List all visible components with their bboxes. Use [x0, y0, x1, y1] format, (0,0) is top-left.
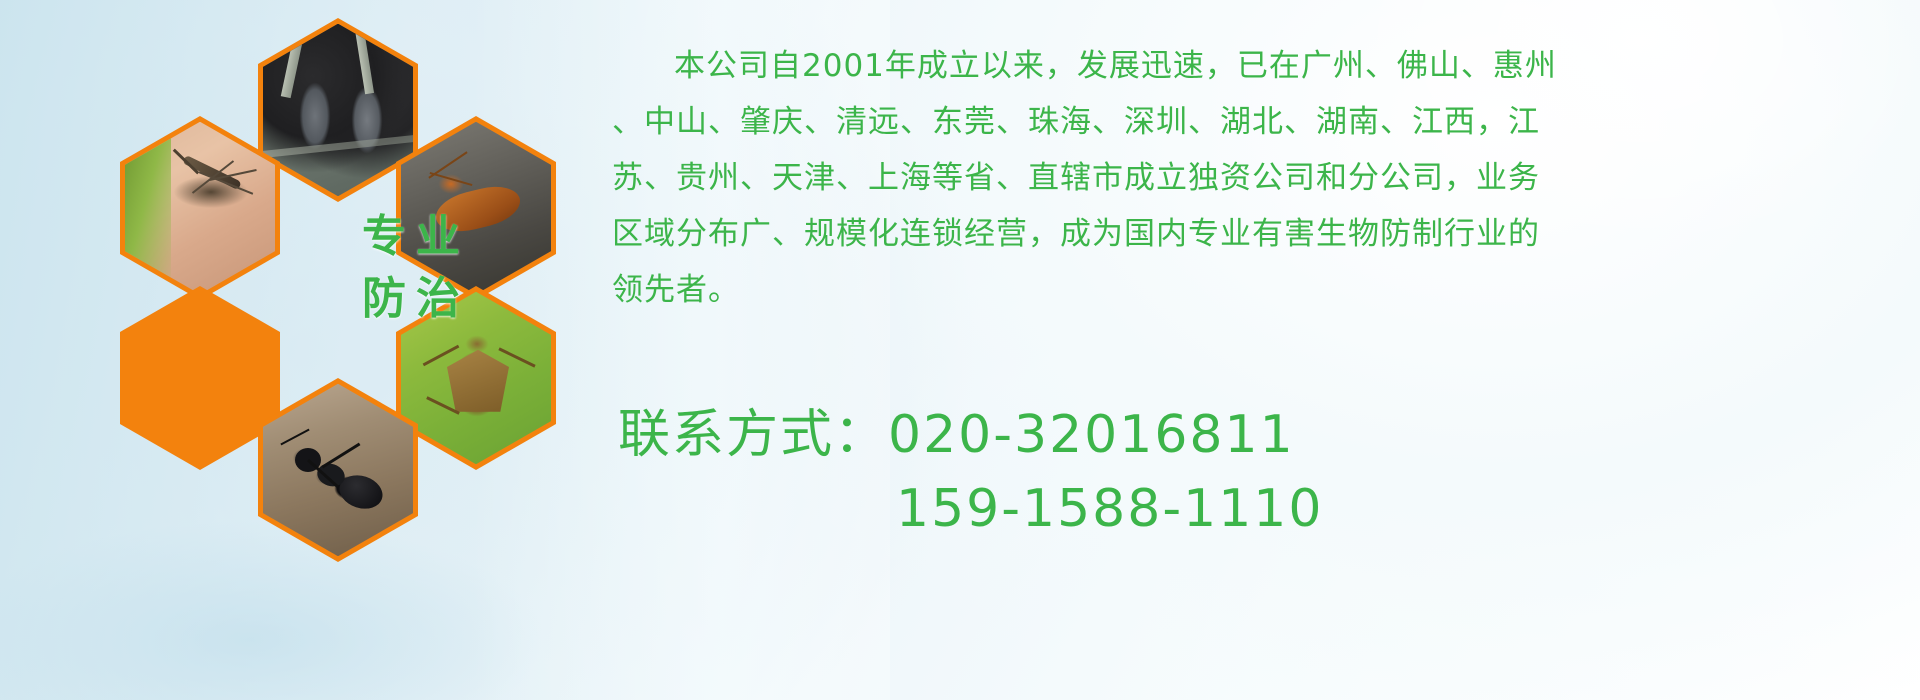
- ant-image: [263, 384, 413, 557]
- hex-photo-ant[interactable]: [258, 378, 418, 562]
- hex-photo-mosquito[interactable]: [120, 116, 280, 300]
- rats-image: [263, 24, 413, 197]
- banner-root: 专业 防治 本公司自2001年成立以来，发展迅速，已在广州、佛山、惠州 、中山、…: [0, 0, 1920, 700]
- cockroach-antenna-2: [430, 172, 473, 186]
- intro-line-5: 领先者。: [612, 262, 1902, 318]
- hexagon-photo-collage: 专业 防治: [88, 8, 588, 563]
- intro-paragraph: 本公司自2001年成立以来，发展迅速，已在广州、佛山、惠州 、中山、肇庆、清远、…: [612, 38, 1902, 318]
- rat-trap-stick-2: [353, 24, 374, 94]
- flies-image: [125, 292, 275, 465]
- intro-line-4: 区域分布广、规模化连锁经营，成为国内专业有害生物防制行业的: [612, 206, 1902, 262]
- stinkbug-leg-1: [423, 344, 460, 365]
- contact-block: 联系方式：020-32016811 159-1588-1110: [618, 398, 1908, 546]
- brand-slogan-line-2: 防治: [326, 268, 506, 330]
- brand-slogan-line-1: 专业: [326, 206, 506, 268]
- hex-photo-flies[interactable]: [120, 286, 280, 470]
- hex-photo-rats-inner: [263, 24, 413, 197]
- rat-trap-stick-1: [281, 24, 307, 98]
- intro-line-1: 本公司自2001年成立以来，发展迅速，已在广州、佛山、惠州: [612, 38, 1902, 94]
- intro-line-2: 、中山、肇庆、清远、东莞、珠海、深圳、湖北、湖南、江西，江: [612, 94, 1902, 150]
- ant-leg-2: [322, 442, 361, 468]
- hex-photo-rats[interactable]: [258, 18, 418, 202]
- hex-photo-mosquito-inner: [125, 122, 275, 295]
- contact-line-primary[interactable]: 联系方式：020-32016811: [618, 398, 1908, 472]
- contact-line-secondary[interactable]: 159-1588-1110: [618, 472, 1908, 546]
- ground-line: [263, 132, 413, 159]
- stinkbug-shield-body: [447, 350, 509, 412]
- hex-photo-flies-inner: [125, 292, 275, 465]
- intro-line-3: 苏、贵州、天津、上海等省、直辖市成立独资公司和分公司，业务: [612, 150, 1902, 206]
- hex-photo-ant-inner: [263, 384, 413, 557]
- brand-slogan: 专业 防治: [326, 206, 506, 331]
- mosquito-image: [125, 122, 275, 295]
- mosquito-green-background: [125, 122, 171, 295]
- ant-antenna: [280, 428, 309, 445]
